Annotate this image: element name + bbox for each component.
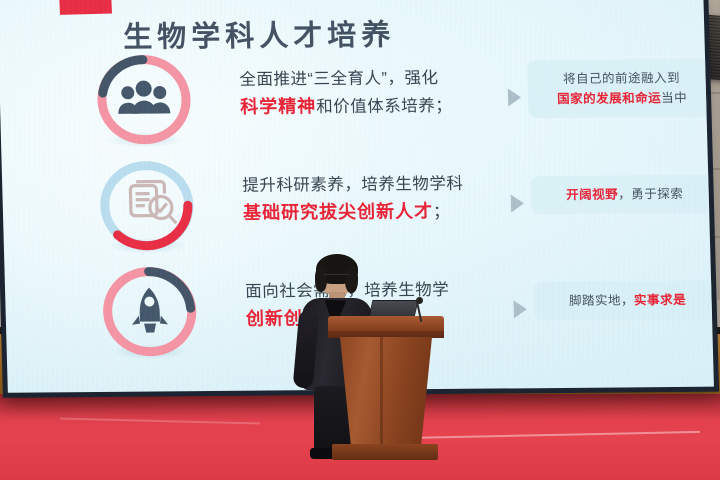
bullet-2-line1: 提升科研素养，培养生物学科 (242, 175, 464, 195)
chip-1-line1: 将自己的前途融入到 (563, 71, 680, 86)
bullet-text-2: 提升科研素养，培养生物学科 基础研究拔尖创新人才； (242, 170, 514, 227)
bullet-1-line2-rest: 和价值体系培养； (316, 97, 453, 116)
podium-body (340, 337, 432, 447)
bullet-1-highlight: 科学精神 (240, 96, 317, 117)
chip-3-highlight: 实事求是 (634, 293, 686, 307)
conference-hall-scene: 新生第一课暨“科技党课”第一期 生物学科人才培养 (0, 0, 720, 480)
arrow-right-icon-2 (511, 194, 524, 212)
podium-base (332, 444, 438, 460)
chip-1-rest: 当中 (661, 91, 687, 105)
chip-3: 脚踏实地，实事求是 (533, 281, 714, 321)
document-search-icon (94, 157, 201, 254)
chip-1-highlight: 国家的发展和命运 (557, 91, 661, 106)
podium-top-edge (328, 331, 444, 338)
bullet-2-highlight: 基础研究拔尖创新人才 (243, 201, 434, 223)
slide-row-2: 提升科研素养，培养生物学科 基础研究拔尖创新人才； 开阔视野，勇于探索 (1, 149, 710, 261)
people-group-icon (91, 51, 198, 148)
rocket-icon (96, 263, 203, 360)
chip-3-rest: 脚踏实地， (569, 293, 634, 308)
chip-2-rest: ，勇于探索 (618, 187, 683, 202)
chip-1: 将自己的前途融入到 国家的发展和命运当中 (527, 59, 714, 119)
chip-2-highlight: 开阔视野 (566, 188, 618, 202)
bullet-2-line2-rest: ； (433, 203, 450, 221)
speaker-glasses (323, 274, 351, 282)
arrow-right-icon-3 (514, 300, 527, 318)
bullet-text-1: 全面推进“三全育人”，强化 科学精神和价值体系培养； (239, 64, 511, 121)
bullet-1-line1: 全面推进“三全育人”，强化 (239, 69, 439, 89)
arrow-right-icon-1 (508, 88, 521, 106)
microphone-head-icon (416, 297, 423, 304)
podium (334, 316, 438, 460)
chip-2: 开阔视野，勇于探索 (530, 175, 714, 215)
slide-row-1: 全面推进“三全育人”，强化 科学精神和价值体系培养； 将自己的前途融入到 国家的… (0, 43, 708, 155)
